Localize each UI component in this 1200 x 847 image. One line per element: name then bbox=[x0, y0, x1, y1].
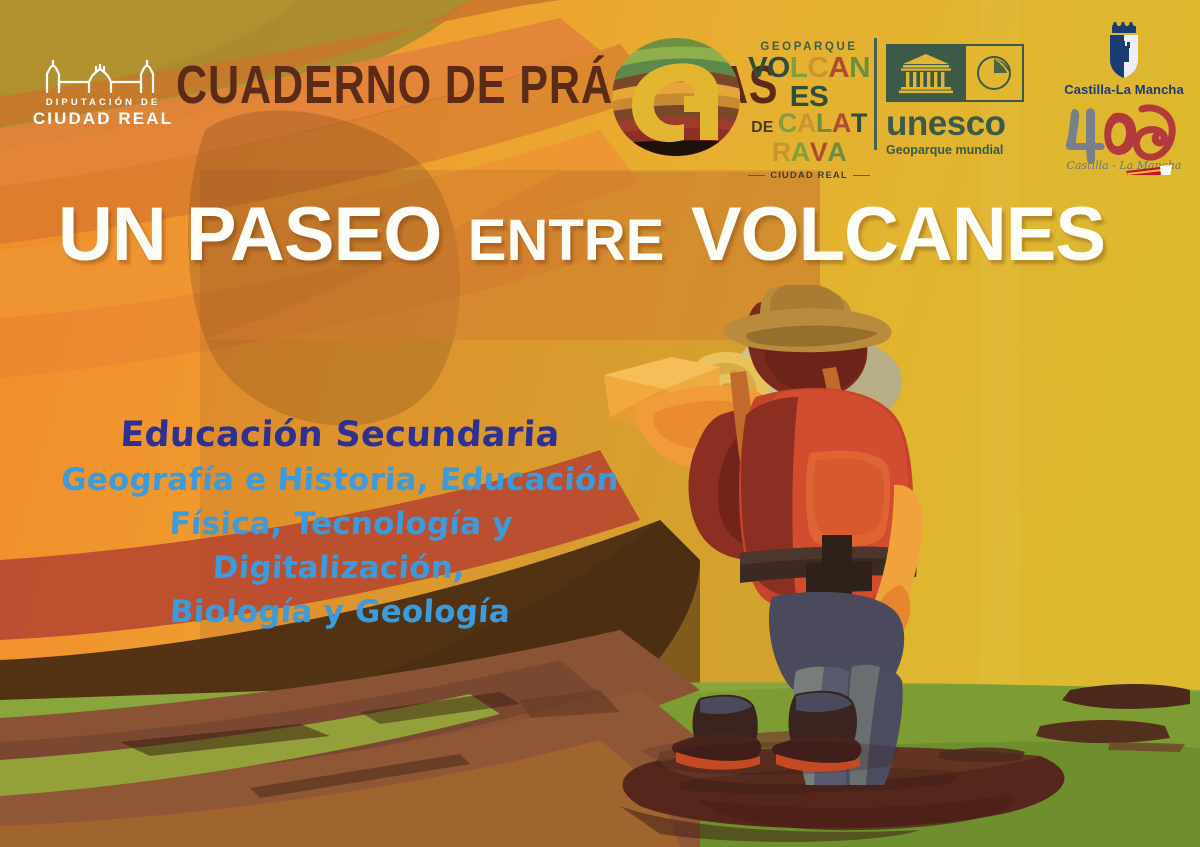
geoparque-volcanes: VOLCANES bbox=[747, 54, 871, 112]
subjects-line-1: Geografía e Historia, Educación bbox=[39, 458, 641, 502]
diputacion-line1: DIPUTACIÓN DE bbox=[28, 97, 178, 109]
geoparque-wordmark: GEOPARQUE VOLCANES DE CALATRAVA CIUDAD R… bbox=[748, 40, 870, 182]
building-outline-icon bbox=[44, 58, 162, 94]
geoparque-calatrava: CALATRAVA bbox=[772, 108, 867, 167]
geoparque-strata-g-icon bbox=[608, 36, 744, 158]
title-part1: UN PASEO bbox=[58, 192, 441, 277]
unesco-emblem-box bbox=[886, 44, 1024, 102]
castilla-la-mancha-name: Castilla-La Mancha bbox=[1058, 82, 1190, 97]
geoparque-ciudad-real: CIUDAD REAL bbox=[770, 169, 848, 182]
rule-right bbox=[853, 175, 870, 177]
poster-header: DIPUTACIÓN DE CIUDAD REAL CUADERNO DE PR… bbox=[0, 0, 1200, 175]
diputacion-line2: CIUDAD REAL bbox=[28, 109, 178, 128]
castilla-la-mancha-logo: Castilla-La Mancha Castilla - La Mancha bbox=[1058, 22, 1190, 175]
title-part2: ENTRE bbox=[446, 208, 665, 273]
unesco-subtitle: Geoparque mundial bbox=[886, 143, 1026, 158]
40e-logo-icon: Castilla - La Mancha bbox=[1058, 103, 1190, 175]
education-level: Educación Secundaria bbox=[39, 412, 641, 458]
castilla-la-mancha-shield-icon bbox=[1100, 22, 1148, 80]
unesco-temple-icon bbox=[888, 46, 964, 100]
unesco-wordmark: unesco bbox=[886, 105, 1026, 143]
subtitle-block: Educación Secundaria Geografía e Histori… bbox=[40, 412, 640, 634]
subjects-line-2: Física, Tecnología y Digitalización, bbox=[38, 502, 643, 590]
title-part3: VOLCANES bbox=[669, 192, 1105, 277]
geoparque-de: DE bbox=[751, 119, 773, 136]
poster-cover: DIPUTACIÓN DE CIUDAD REAL CUADERNO DE PR… bbox=[0, 0, 1200, 847]
unesco-globe-icon bbox=[964, 46, 1022, 100]
header-divider bbox=[874, 38, 877, 150]
rule-left bbox=[748, 175, 765, 177]
unesco-logo: unesco Geoparque mundial bbox=[886, 44, 1026, 158]
subjects-line-3: Biología y Geología bbox=[39, 590, 641, 634]
diputacion-logo: DIPUTACIÓN DE CIUDAD REAL bbox=[28, 58, 178, 128]
page-title: UN PASEO ENTRE VOLCANES bbox=[58, 196, 1105, 274]
